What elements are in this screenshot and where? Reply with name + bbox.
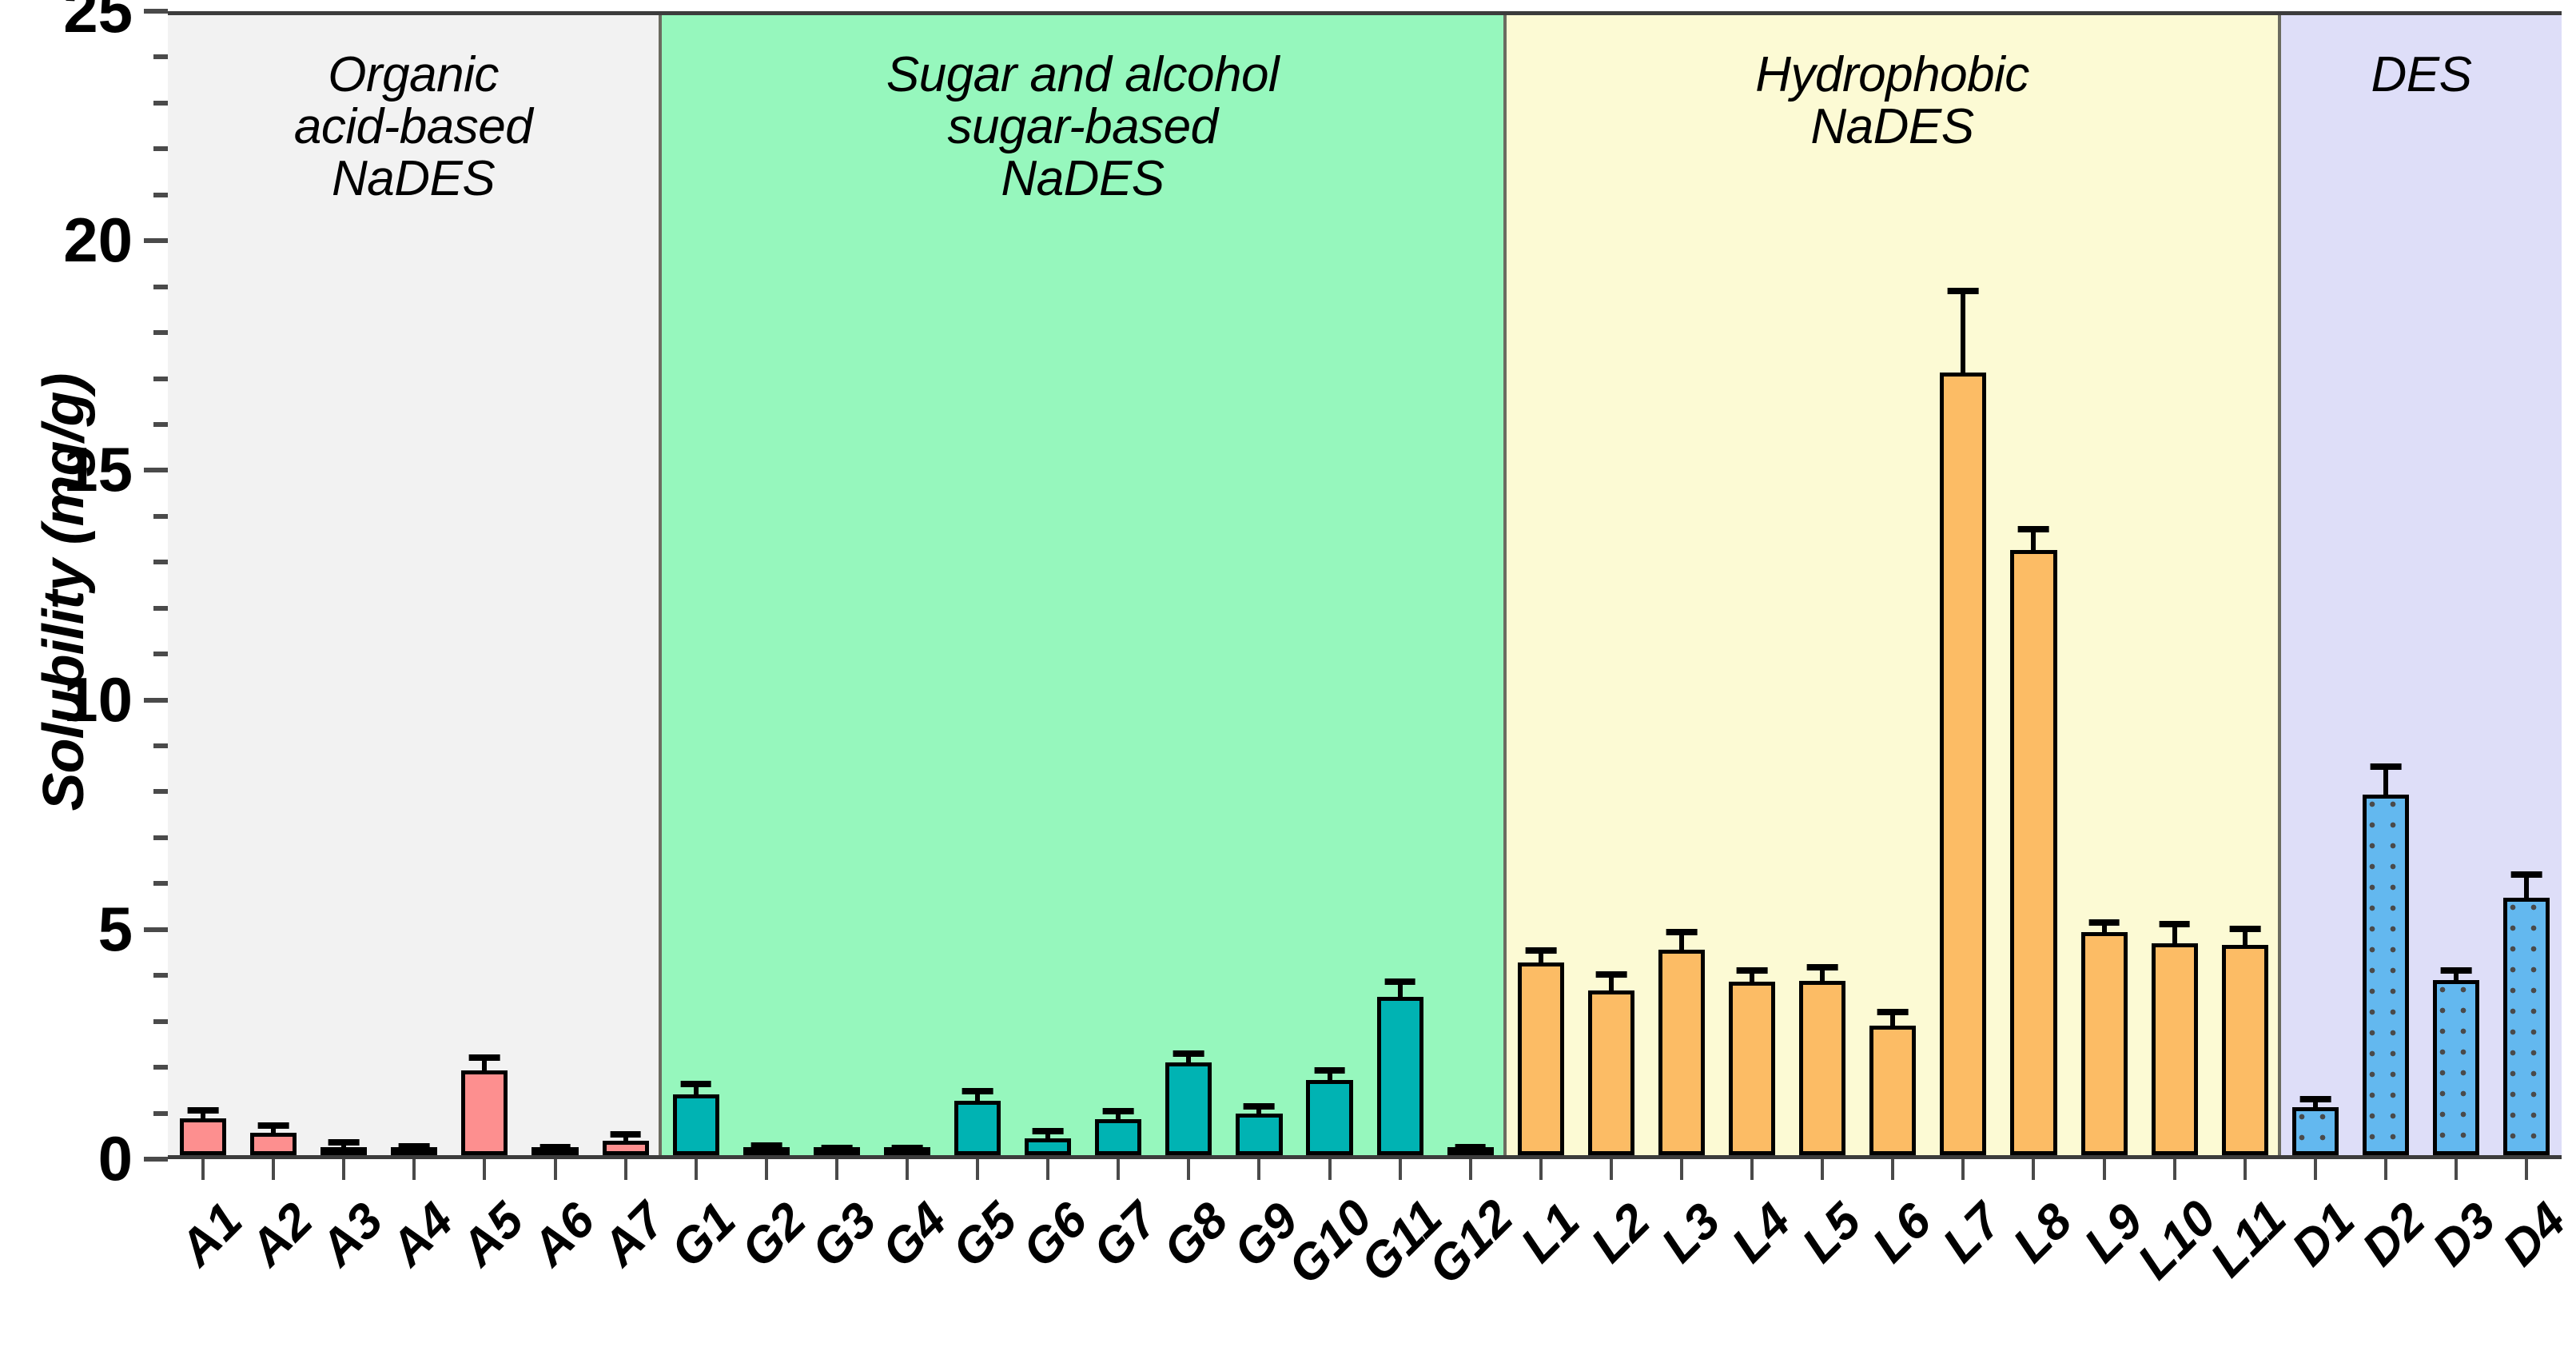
tick-line [153, 514, 168, 519]
bar-D3[interactable] [2433, 980, 2479, 1155]
tick-line [144, 927, 168, 932]
x-axis-tick [2525, 1159, 2528, 1180]
figure-root: Solubility (mg/g) 0510152025 Organicacid… [0, 0, 2576, 1350]
bar-slot [2069, 15, 2140, 1155]
x-axis-tick [2314, 1159, 2317, 1180]
tick-line [153, 1019, 168, 1024]
error-bar-G11 [1398, 985, 1403, 996]
x-axis-tick [1610, 1159, 1613, 1180]
x-axis-tick [1961, 1159, 1965, 1180]
x-axis-tick [835, 1159, 838, 1180]
error-bar-L2 [1609, 978, 1614, 990]
bar-G9[interactable] [1236, 1114, 1282, 1155]
bar-slot [1295, 15, 1365, 1155]
error-bar-L6 [1890, 1015, 1895, 1026]
x-axis-slot: A7 [591, 1159, 661, 1351]
x-axis-slot: L2 [1576, 1159, 1646, 1351]
x-axis-tick [695, 1159, 698, 1180]
error-bar-L3 [1679, 935, 1684, 949]
bar-slot [379, 15, 449, 1155]
error-bar-cap-A2 [258, 1122, 289, 1129]
bar-L6[interactable] [1869, 1026, 1916, 1155]
error-bar-cap-L7 [1948, 288, 1979, 294]
x-axis-tick [1257, 1159, 1260, 1180]
bar-slot [309, 15, 379, 1155]
error-bar-cap-G6 [1033, 1128, 1064, 1134]
tick-line [153, 54, 168, 59]
error-bar-cap-L1 [1525, 947, 1556, 954]
x-axis-tick [1117, 1159, 1120, 1180]
x-axis-slot: L10 [2140, 1159, 2210, 1351]
bar-slot [802, 15, 872, 1155]
x-axis-slot: L3 [1646, 1159, 1717, 1351]
bar-G3[interactable] [814, 1147, 860, 1155]
tick-line [153, 193, 168, 197]
bar-slot [520, 15, 590, 1155]
tick-line [153, 652, 168, 656]
y-axis-tick-label: 15 [63, 433, 133, 505]
x-axis-slot: D1 [2280, 1159, 2351, 1351]
tick-line [144, 468, 168, 472]
tick-line [144, 1157, 168, 1162]
bar-A2[interactable] [250, 1133, 297, 1155]
bar-slot [2140, 15, 2210, 1155]
x-axis-tick [1469, 1159, 1472, 1180]
error-bar-G8 [1186, 1057, 1191, 1062]
tick-line [144, 238, 168, 243]
error-bar-L5 [1820, 970, 1825, 981]
tick-line [153, 1065, 168, 1070]
error-bar-D4 [2524, 878, 2529, 899]
error-bar-L1 [1539, 954, 1543, 962]
x-axis-tick [2384, 1159, 2387, 1180]
bar-L2[interactable] [1588, 990, 1634, 1155]
bar-G6[interactable] [1025, 1138, 1071, 1155]
x-axis-slot: G6 [1013, 1159, 1083, 1351]
bar-G2[interactable] [743, 1147, 790, 1155]
error-bar-cap-A5 [469, 1054, 500, 1061]
tick-line [153, 422, 168, 427]
error-bar-cap-G1 [680, 1081, 711, 1087]
x-axis-slot: G8 [1153, 1159, 1224, 1351]
bar-slot [1576, 15, 1646, 1155]
x-axis-slot: A3 [309, 1159, 379, 1351]
bar-G7[interactable] [1095, 1119, 1141, 1155]
x-axis-tick [1046, 1159, 1049, 1180]
error-bar-cap-G8 [1173, 1050, 1204, 1057]
bar-A1[interactable] [180, 1118, 226, 1155]
bar-G12[interactable] [1447, 1147, 1494, 1155]
x-axis-slot: L11 [2210, 1159, 2280, 1351]
x-axis: A1A2A3A4A5A6A7G1G2G3G4G5G6G7G8G9G10G11G1… [168, 1159, 2562, 1351]
error-bar-cap-L6 [1877, 1009, 1909, 1015]
x-axis-tick [272, 1159, 275, 1180]
error-bar-L11 [2243, 932, 2248, 945]
bar-L1[interactable] [1518, 962, 1564, 1155]
x-axis-slot: L5 [1787, 1159, 1857, 1351]
bar-A7[interactable] [603, 1141, 649, 1155]
error-bar-cap-L10 [2159, 921, 2190, 927]
bar-slot [1365, 15, 1435, 1155]
tick-line [153, 743, 168, 748]
x-axis-slot: A6 [520, 1159, 590, 1351]
bar-slot [238, 15, 309, 1155]
error-bar-cap-G9 [1244, 1103, 1275, 1110]
bar-slot [872, 15, 942, 1155]
x-axis-tick [483, 1159, 486, 1180]
bar-G4[interactable] [884, 1147, 930, 1155]
error-bar-G1 [694, 1087, 699, 1094]
bar-G1[interactable] [673, 1094, 719, 1155]
error-bar-G5 [975, 1094, 980, 1101]
error-bar-L10 [2172, 927, 2177, 943]
tick-line [153, 606, 168, 611]
x-axis-tick [1399, 1159, 1402, 1180]
error-bar-cap-D1 [2299, 1096, 2331, 1102]
bar-slot [1506, 15, 1576, 1155]
x-axis-slot: L9 [2069, 1159, 2140, 1351]
error-bar-L4 [1750, 974, 1754, 982]
tick-line [144, 9, 168, 14]
x-axis-tick [201, 1159, 205, 1180]
tick-line [153, 377, 168, 381]
y-axis: 0510152025 [0, 0, 168, 1159]
bar-slot [2210, 15, 2280, 1155]
x-axis-tick [2103, 1159, 2106, 1180]
bar-L11[interactable] [2222, 945, 2268, 1155]
x-axis-tick [2173, 1159, 2176, 1180]
x-axis-slot: A2 [238, 1159, 309, 1351]
x-axis-slot: G2 [731, 1159, 802, 1351]
error-bar-cap-L4 [1737, 967, 1768, 974]
y-axis-tick-label: 10 [63, 664, 133, 735]
error-bar-A5 [482, 1061, 487, 1070]
bar-slot [731, 15, 802, 1155]
x-axis-tick [412, 1159, 416, 1180]
tick-line [153, 835, 168, 840]
bar-L3[interactable] [1658, 950, 1705, 1155]
bar-A5[interactable] [461, 1070, 508, 1155]
x-axis-tick [1539, 1159, 1543, 1180]
error-bar-D2 [2383, 770, 2388, 795]
x-axis-tick [1328, 1159, 1332, 1180]
x-axis-tick [2032, 1159, 2035, 1180]
error-bar-cap-A7 [610, 1131, 641, 1138]
bar-G5[interactable] [954, 1101, 1001, 1155]
x-axis-slot: G5 [942, 1159, 1013, 1351]
y-axis-tick-label: 0 [98, 1122, 133, 1194]
bar-slot [2421, 15, 2491, 1155]
x-axis-slot: A4 [379, 1159, 449, 1351]
error-bar-cap-L3 [1666, 929, 1698, 935]
bar-slot [1083, 15, 1153, 1155]
bar-L5[interactable] [1799, 981, 1845, 1155]
x-axis-tick [1891, 1159, 1894, 1180]
error-bar-cap-L5 [1807, 964, 1838, 970]
tick-line [153, 330, 168, 335]
x-axis-label-D4: D4 [2492, 1192, 2576, 1277]
plot-area: Organicacid-basedNaDESSugar and alcohols… [168, 11, 2562, 1159]
bar-slot [1998, 15, 2068, 1155]
error-bar-cap-L9 [2088, 919, 2120, 926]
x-axis-tick [1187, 1159, 1190, 1180]
y-axis-tick-label: 25 [63, 0, 133, 46]
x-axis-tick [624, 1159, 627, 1180]
bar-A6[interactable] [532, 1147, 578, 1155]
x-axis-slot: G12 [1435, 1159, 1506, 1351]
bar-slot [2351, 15, 2421, 1155]
bar-slot [2280, 15, 2351, 1155]
bar-slot [942, 15, 1013, 1155]
x-axis-tick [976, 1159, 979, 1180]
x-axis-tick [1821, 1159, 1824, 1180]
tick-line [153, 881, 168, 886]
x-axis-slot: G7 [1083, 1159, 1153, 1351]
error-bar-cap-A3 [328, 1139, 360, 1146]
x-axis-slot: L7 [1928, 1159, 1998, 1351]
x-axis-slot: G1 [661, 1159, 731, 1351]
error-bar-G10 [1328, 1074, 1332, 1080]
bar-L4[interactable] [1729, 982, 1775, 1155]
x-axis-slot: L6 [1857, 1159, 1928, 1351]
tick-line [144, 698, 168, 703]
bar-slot [2491, 15, 2562, 1155]
x-axis-tick [1750, 1159, 1754, 1180]
error-bar-cap-G10 [1314, 1067, 1345, 1074]
error-bar-L7 [1961, 294, 1965, 373]
bar-slot [449, 15, 520, 1155]
error-bar-cap-L2 [1596, 971, 1627, 978]
x-axis-slot: A1 [168, 1159, 238, 1351]
bar-slot [1646, 15, 1717, 1155]
x-axis-slot: A5 [449, 1159, 520, 1351]
x-axis-slot: L1 [1506, 1159, 1576, 1351]
error-bar-cap-D3 [2441, 967, 2472, 974]
x-axis-slot: L4 [1717, 1159, 1787, 1351]
y-axis-tick-label: 5 [98, 893, 133, 965]
x-axis-slot: D3 [2421, 1159, 2491, 1351]
error-bar-cap-G11 [1384, 978, 1415, 985]
tick-line [153, 973, 168, 978]
x-axis-tick [2244, 1159, 2247, 1180]
bar-G10[interactable] [1306, 1080, 1352, 1155]
bar-slot [1013, 15, 1083, 1155]
x-axis-tick [342, 1159, 345, 1180]
tick-line [153, 1111, 168, 1116]
bar-D4[interactable] [2503, 898, 2550, 1155]
bar-slot [591, 15, 661, 1155]
x-axis-slot: G3 [802, 1159, 872, 1351]
bar-L7[interactable] [1940, 373, 1986, 1155]
bars-layer [168, 15, 2562, 1155]
bar-slot [1928, 15, 1998, 1155]
bar-D1[interactable] [2292, 1107, 2339, 1155]
x-axis-slot: D4 [2491, 1159, 2562, 1351]
x-axis-tick [1680, 1159, 1683, 1180]
bar-G11[interactable] [1377, 997, 1423, 1155]
bar-slot [1787, 15, 1857, 1155]
bar-slot [1224, 15, 1294, 1155]
bar-L9[interactable] [2081, 932, 2128, 1155]
error-bar-cap-G5 [962, 1088, 993, 1094]
bar-slot [1435, 15, 1506, 1155]
bar-slot [1717, 15, 1787, 1155]
tick-line [153, 101, 168, 106]
tick-line [153, 789, 168, 794]
error-bar-cap-L8 [2018, 526, 2049, 532]
x-axis-tick [554, 1159, 557, 1180]
x-axis-slot: G4 [872, 1159, 942, 1351]
x-axis-slot: D2 [2351, 1159, 2421, 1351]
error-bar-cap-A1 [188, 1107, 219, 1114]
error-bar-L8 [2031, 532, 2036, 550]
x-axis-tick [906, 1159, 909, 1180]
error-bar-L9 [2102, 926, 2107, 932]
bar-slot [1857, 15, 1928, 1155]
bar-slot [661, 15, 731, 1155]
x-axis-slot: L8 [1998, 1159, 2068, 1351]
error-bar-cap-G7 [1103, 1108, 1134, 1114]
tick-line [153, 560, 168, 564]
bar-L8[interactable] [2010, 550, 2056, 1155]
tick-line [153, 285, 168, 289]
error-bar-D3 [2454, 974, 2459, 979]
error-bar-cap-D2 [2371, 763, 2402, 770]
bar-G8[interactable] [1165, 1062, 1212, 1155]
error-bar-cap-L11 [2229, 926, 2260, 932]
bar-A3[interactable] [321, 1147, 367, 1155]
error-bar-cap-D4 [2511, 871, 2542, 878]
tick-line [153, 146, 168, 151]
bar-D2[interactable] [2363, 795, 2409, 1155]
x-axis-tick [2455, 1159, 2458, 1180]
bar-slot [168, 15, 238, 1155]
x-axis-tick [765, 1159, 768, 1180]
bar-A4[interactable] [391, 1147, 437, 1155]
y-axis-tick-label: 20 [63, 204, 133, 276]
bar-slot [1153, 15, 1224, 1155]
bar-L10[interactable] [2152, 943, 2198, 1155]
